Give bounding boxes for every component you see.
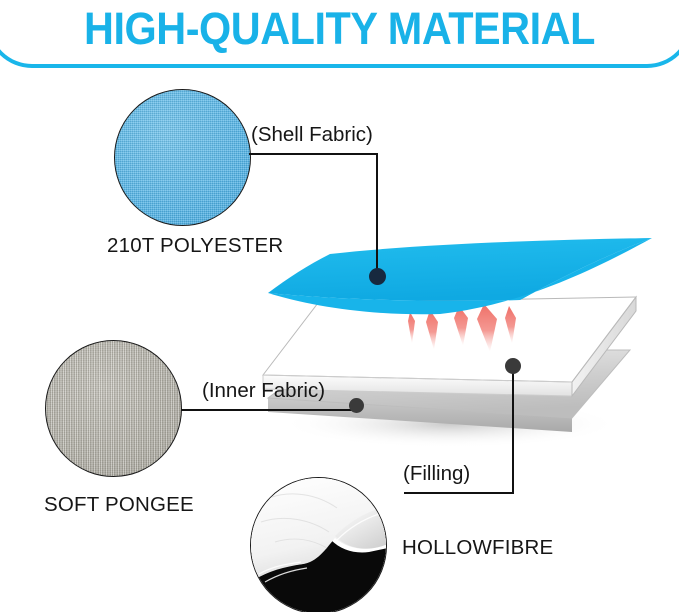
infographic-canvas: HIGH-QUALITY MATERIAL [0,0,679,612]
caption-hollowfibre: HOLLOWFIBRE [402,536,553,560]
shell-leader-line-vertical [376,153,378,273]
label-shell-fabric: (Shell Fabric) [251,123,373,147]
label-inner-fabric: (Inner Fabric) [202,379,325,403]
shell-leader-line-horizontal [249,153,378,155]
swatch-pongee [45,340,182,477]
filling-leader-line-horizontal [404,492,514,494]
shell-leader-dot [369,268,386,285]
swatch-hollowfibre [250,477,387,612]
inner-leader-line-horizontal [181,409,357,411]
swatch-polyester [114,89,251,226]
inner-leader-dot [349,398,364,413]
filling-leader-dot [505,358,521,374]
caption-polyester: 210T POLYESTER [107,234,283,258]
caption-pongee: SOFT PONGEE [44,493,194,517]
filling-leader-line-vertical [512,372,514,493]
label-filling: (Filling) [403,462,470,486]
hollowfibre-texture [251,478,387,612]
